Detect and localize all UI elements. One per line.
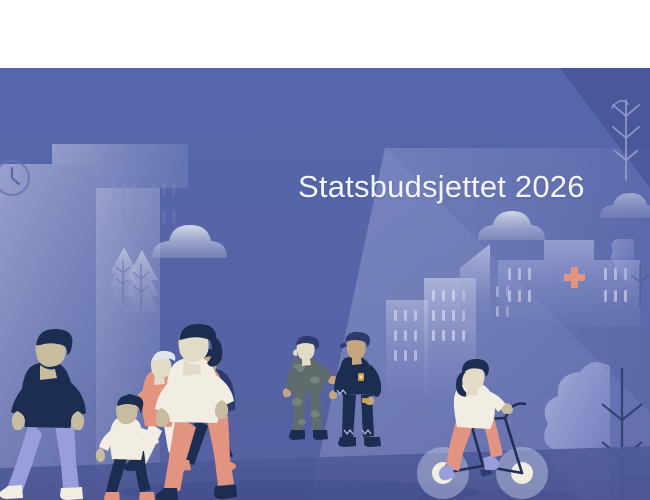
screenshot-root: Statsbudsjettet 2026 (0, 0, 650, 500)
page-title: Statsbudsjettet 2026 (298, 170, 585, 204)
top-white-band (0, 0, 650, 68)
hero-artwork (0, 68, 650, 500)
hero-illustration: Statsbudsjettet 2026 (0, 68, 650, 500)
